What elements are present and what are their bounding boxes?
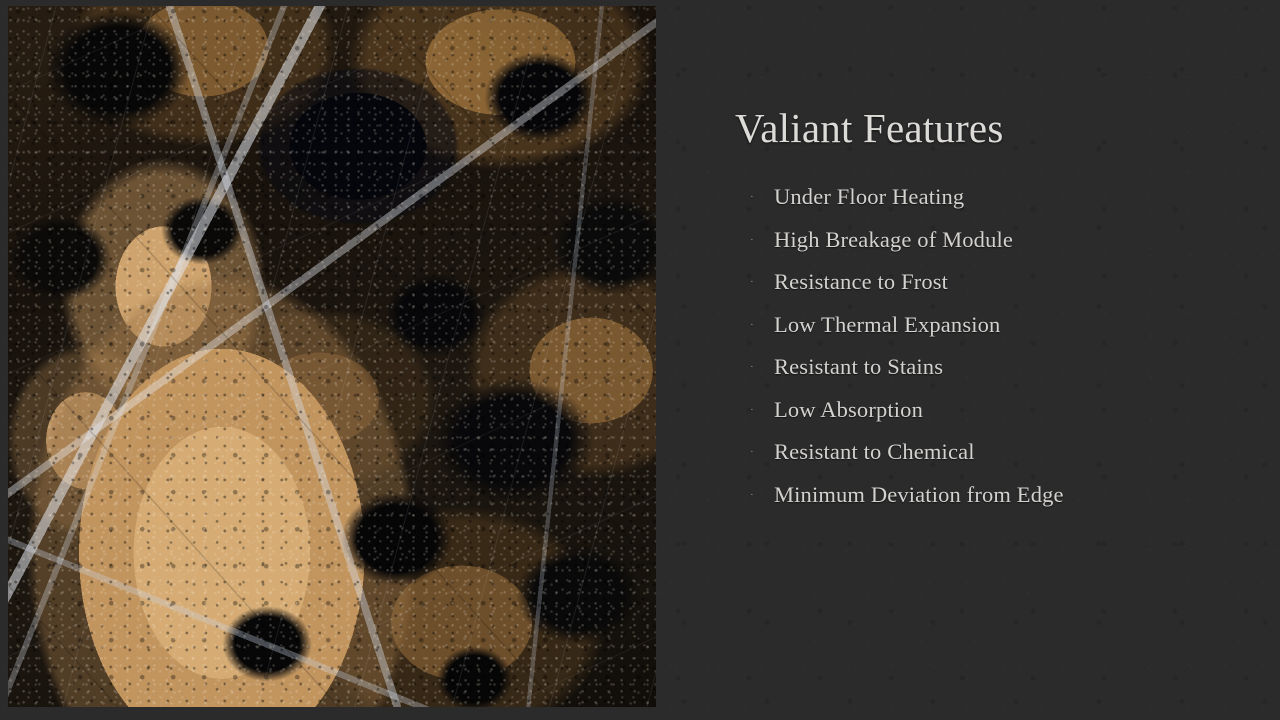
list-item: · High Breakage of Module: [740, 229, 1270, 272]
bullet-dot-icon: ·: [740, 490, 774, 501]
list-item: · Low Thermal Expansion: [740, 314, 1270, 357]
marble-slab-photo: [8, 6, 656, 707]
bullet-dot-icon: ·: [740, 362, 774, 373]
bullet-dot-icon: ·: [740, 235, 774, 246]
slide-title: Valiant Features: [735, 108, 1003, 149]
list-item-label: High Breakage of Module: [774, 229, 1270, 252]
bullet-dot-icon: ·: [740, 320, 774, 331]
list-item: · Under Floor Heating: [740, 186, 1270, 229]
bullet-dot-icon: ·: [740, 405, 774, 416]
list-item-label: Resistance to Frost: [774, 271, 1270, 294]
list-item-label: Minimum Deviation from Edge: [774, 484, 1270, 507]
list-item: · Resistant to Chemical: [740, 441, 1270, 484]
bullet-dot-icon: ·: [740, 277, 774, 288]
bullet-dot-icon: ·: [740, 447, 774, 458]
list-item-label: Low Thermal Expansion: [774, 314, 1270, 337]
list-item: · Resistance to Frost: [740, 271, 1270, 314]
list-item: · Resistant to Stains: [740, 356, 1270, 399]
marble-vignette-layer: [8, 6, 656, 707]
slide-content-panel: Valiant Features · Under Floor Heating ·…: [700, 0, 1280, 720]
list-item: · Minimum Deviation from Edge: [740, 484, 1270, 527]
list-item-label: Resistant to Stains: [774, 356, 1270, 379]
list-item-label: Resistant to Chemical: [774, 441, 1270, 464]
presentation-slide: Valiant Features · Under Floor Heating ·…: [0, 0, 1280, 720]
list-item-label: Under Floor Heating: [774, 186, 1270, 209]
feature-bullet-list: · Under Floor Heating · High Breakage of…: [740, 186, 1270, 526]
bullet-dot-icon: ·: [740, 192, 774, 203]
list-item-label: Low Absorption: [774, 399, 1270, 422]
list-item: · Low Absorption: [740, 399, 1270, 442]
